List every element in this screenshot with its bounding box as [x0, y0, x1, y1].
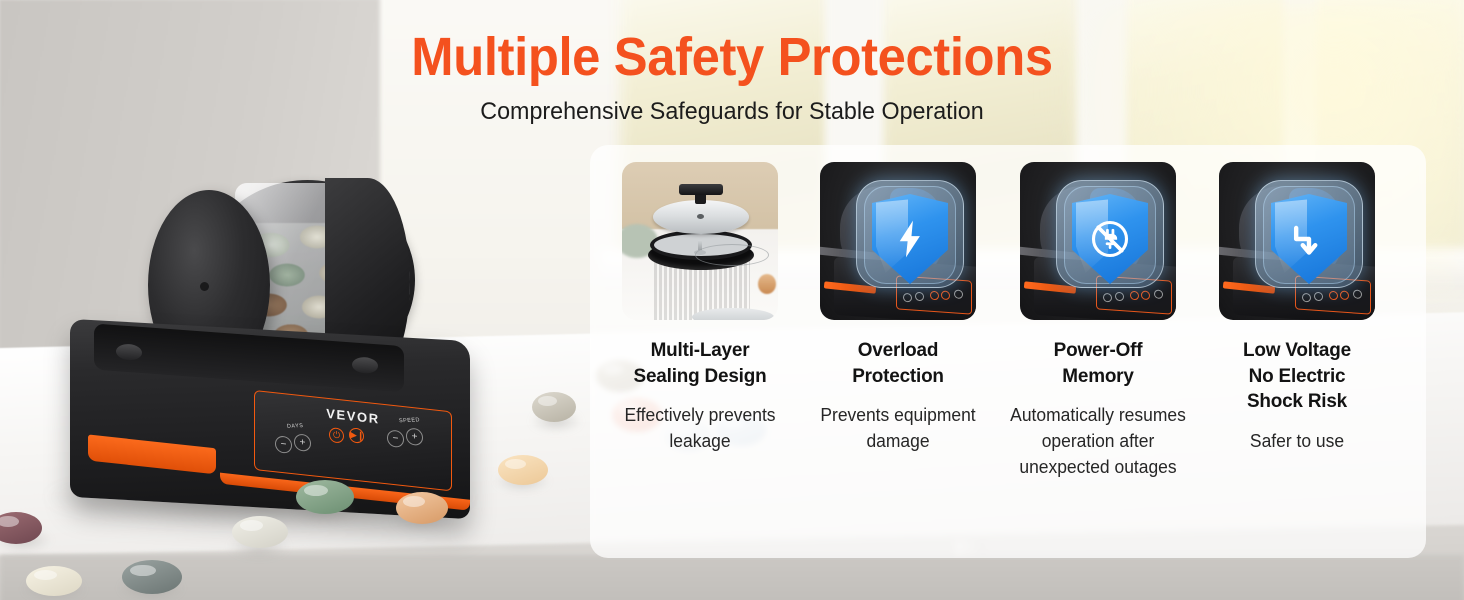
shield-lightning-bolt-icon	[854, 180, 966, 300]
tumbler-base-unit: VEVOR DAYS − + ⏻ ▶❙ SPEED − +	[70, 319, 470, 519]
no-plug-icon	[1072, 194, 1148, 284]
feature-card-multi-layer-sealing[interactable]: Multi-Layer Sealing Design Effectively p…	[600, 162, 800, 558]
stone	[122, 560, 182, 594]
feature-card-list: Multi-Layer Sealing Design Effectively p…	[590, 145, 1426, 558]
title-line: No Electric	[1200, 364, 1394, 390]
feature-card-title: Low Voltage No Electric Shock Risk	[1200, 338, 1394, 415]
feature-card-title: Power-Off Memory	[1001, 338, 1195, 389]
title-line: Multi-Layer	[603, 338, 797, 364]
feature-card-power-off-memory[interactable]: Power-Off Memory Automatically resumes o…	[998, 162, 1198, 558]
tumbler-orange-handle	[88, 434, 216, 474]
stone	[232, 516, 288, 548]
title-line: Power-Off	[1001, 338, 1195, 364]
power-off-memory-image	[1020, 162, 1176, 320]
feature-card-description: Effectively prevents leakage	[603, 403, 797, 454]
speed-minus-button[interactable]: −	[387, 429, 404, 448]
page-title: Multiple Safety Protections	[44, 30, 1420, 84]
inner-seal-plate	[692, 308, 774, 320]
lightning-bolt-icon	[872, 194, 948, 284]
title-line: Protection	[801, 364, 995, 390]
speed-label: SPEED	[399, 417, 421, 424]
title-line: Sealing Design	[603, 364, 797, 390]
stone	[498, 455, 548, 485]
feature-card-title: Overload Protection	[801, 338, 995, 389]
power-button[interactable]: ⏻	[329, 427, 344, 444]
feature-card-description: Safer to use	[1200, 429, 1394, 455]
feature-card-description: Prevents equipment damage	[801, 403, 995, 454]
title-line: Overload	[801, 338, 995, 364]
voltage-drop-arrow-icon	[1271, 194, 1347, 284]
background-floor	[0, 555, 1464, 600]
stone	[296, 480, 354, 514]
feature-card-low-voltage[interactable]: Low Voltage No Electric Shock Risk Safer…	[1197, 162, 1397, 558]
play-pause-button[interactable]: ▶❙	[349, 427, 364, 444]
feature-card-title: Multi-Layer Sealing Design	[603, 338, 797, 389]
lid-groove	[695, 244, 769, 266]
shield-no-plug-icon	[1054, 180, 1166, 300]
feature-card-overload-protection[interactable]: Overload Protection Prevents equipment d…	[798, 162, 998, 558]
product-rock-tumbler: VEVOR DAYS − + ⏻ ▶❙ SPEED − +	[60, 175, 530, 525]
sealing-photo-background	[622, 162, 778, 320]
title-line: Shock Risk	[1200, 389, 1394, 415]
dark-product-photo	[1219, 162, 1375, 320]
feature-card-description: Automatically resumes operation after un…	[1001, 403, 1195, 480]
sealing-lid-photo	[622, 162, 778, 320]
dark-product-photo	[1020, 162, 1176, 320]
lid-knob-handle	[679, 184, 723, 195]
tumbler-control-panel[interactable]: VEVOR DAYS − + ⏻ ▶❙ SPEED − +	[254, 390, 452, 491]
dark-product-photo	[820, 162, 976, 320]
title-line: Low Voltage	[1200, 338, 1394, 364]
stone	[26, 566, 82, 596]
shield-voltage-drop-arrow-icon	[1253, 180, 1365, 300]
days-minus-button[interactable]: −	[275, 435, 292, 454]
stone	[532, 392, 576, 422]
low-voltage-image	[1219, 162, 1375, 320]
marketing-banner: VEVOR DAYS − + ⏻ ▶❙ SPEED − +	[0, 0, 1464, 600]
stone	[396, 492, 448, 524]
blurred-stone	[758, 274, 776, 294]
days-plus-button[interactable]: +	[294, 433, 311, 452]
overload-protection-image	[820, 162, 976, 320]
title-line: Memory	[1001, 364, 1195, 390]
page-subtitle: Comprehensive Safeguards for Stable Oper…	[22, 98, 1442, 126]
days-label: DAYS	[287, 423, 304, 430]
lid-vent-hole	[697, 214, 704, 219]
